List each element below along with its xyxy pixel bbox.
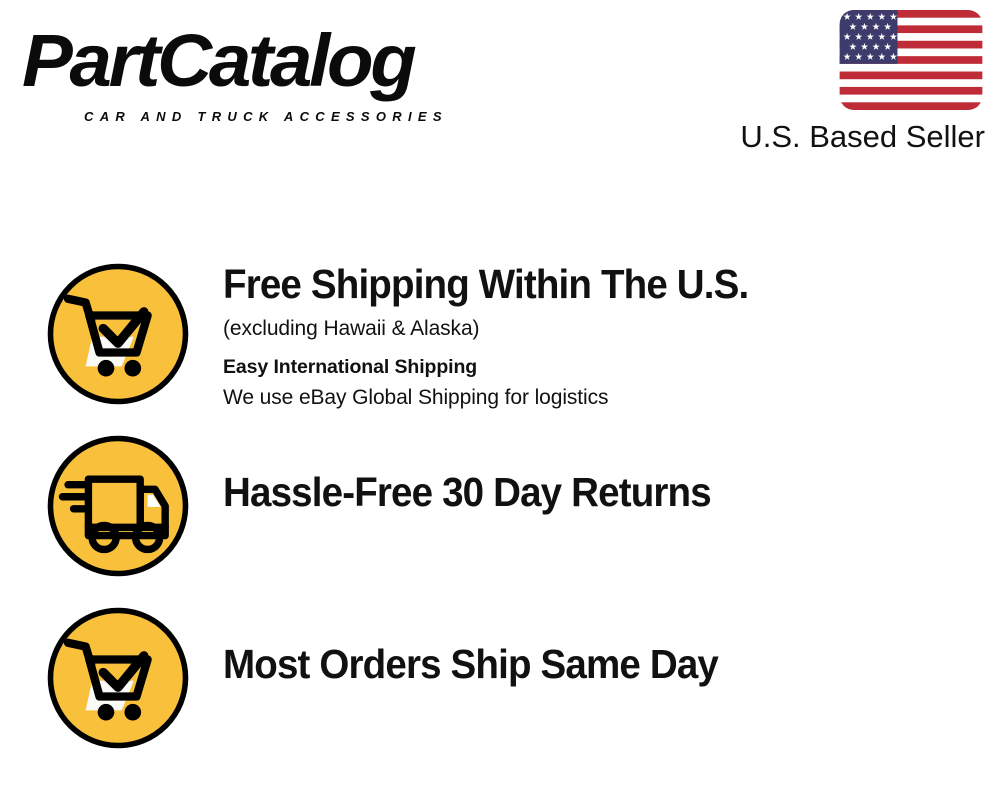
feature-row: Hassle-Free 30 Day Returns — [0, 420, 1000, 592]
us-based-seller-badge: U.S. Based Seller — [695, 10, 985, 160]
feature-text: Hassle-Free 30 Day Returns — [223, 468, 983, 516]
us-flag-icon — [839, 10, 983, 110]
feature-subheading: Easy International Shipping — [223, 353, 983, 382]
brand-logo[interactable]: PartCatalog CAR AND TRUCK ACCESSORIES — [22, 18, 492, 123]
shopping-cart-check-icon — [44, 604, 192, 752]
delivery-truck-icon — [44, 432, 192, 580]
brand-wordmark: PartCatalog — [22, 18, 414, 104]
brand-tagline: CAR AND TRUCK ACCESSORIES — [84, 109, 448, 125]
feature-list: Free Shipping Within The U.S. (excluding… — [0, 170, 1000, 800]
shopping-cart-check-icon — [44, 260, 192, 408]
feature-text: Free Shipping Within The U.S. (excluding… — [223, 260, 983, 413]
us-based-seller-label: U.S. Based Seller — [695, 116, 985, 158]
feature-title: Hassle-Free 30 Day Returns — [223, 468, 937, 516]
feature-subdetail: We use eBay Global Shipping for logistic… — [223, 383, 983, 413]
feature-title: Free Shipping Within The U.S. — [223, 260, 937, 308]
feature-subnote: (excluding Hawaii & Alaska) — [223, 313, 983, 344]
feature-row: Most Orders Ship Same Day — [0, 592, 1000, 764]
feature-row: Free Shipping Within The U.S. (excluding… — [0, 248, 1000, 420]
feature-title: Most Orders Ship Same Day — [223, 640, 937, 688]
feature-text: Most Orders Ship Same Day — [223, 640, 983, 688]
page-header: PartCatalog CAR AND TRUCK ACCESSORIES — [0, 0, 1000, 170]
